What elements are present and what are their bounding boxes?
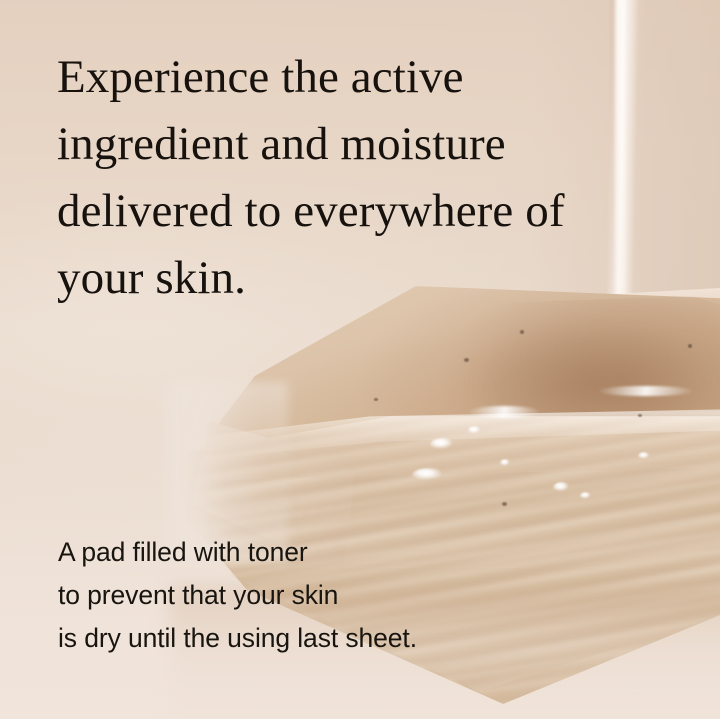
surface-fleck	[464, 358, 469, 362]
surface-fleck	[638, 414, 642, 417]
surface-fleck	[688, 344, 692, 348]
water-droplet	[430, 438, 456, 451]
subcopy-text: A pad filled with toner to prevent that …	[58, 531, 578, 660]
water-glint	[598, 386, 694, 396]
water-droplet	[580, 492, 592, 500]
surface-fleck	[502, 502, 507, 506]
product-image-canvas: Experience the active ingredient and moi…	[0, 0, 720, 719]
surface-fleck	[374, 398, 378, 401]
surface-fleck	[520, 330, 524, 334]
water-droplet	[638, 452, 651, 460]
water-glint	[468, 406, 540, 418]
water-droplet	[500, 459, 511, 467]
headline-text: Experience the active ingredient and moi…	[57, 44, 657, 312]
water-droplet	[468, 426, 482, 435]
water-droplet	[553, 482, 571, 493]
water-droplet	[412, 468, 446, 482]
